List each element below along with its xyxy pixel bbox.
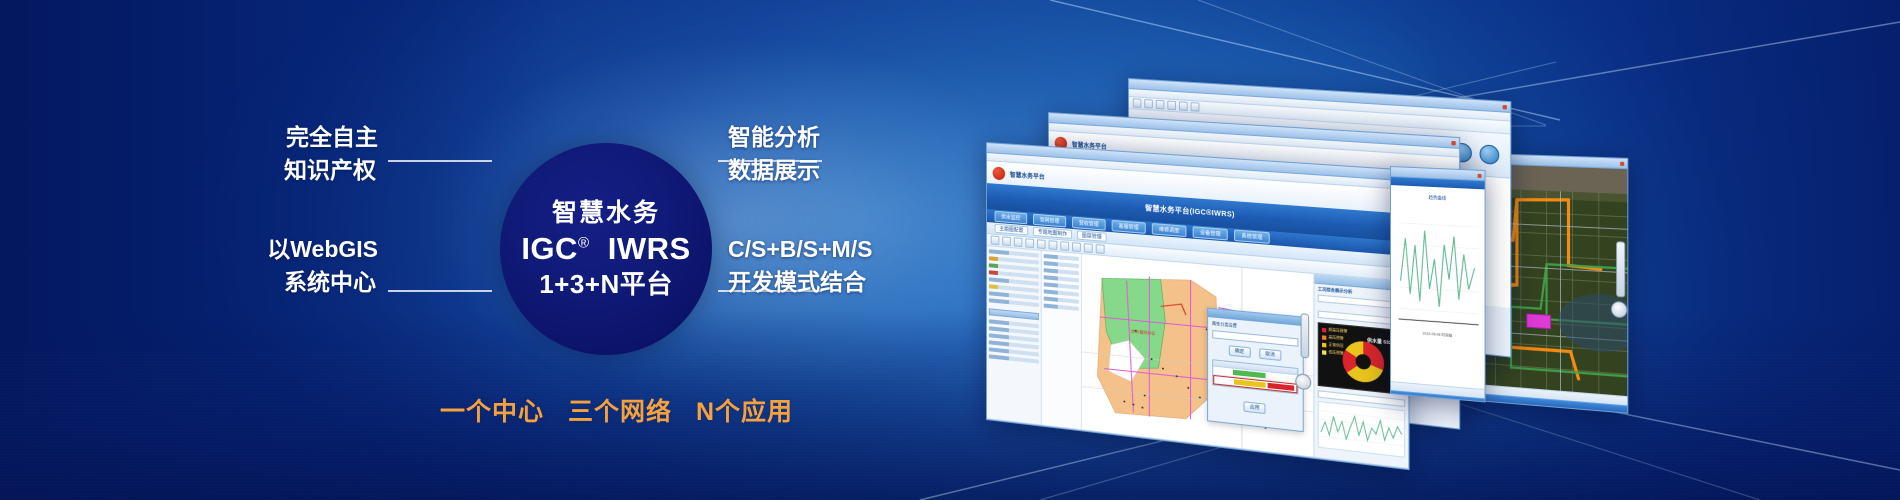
banner-stage: 智慧水务平台(IGC®IWRS) 智慧水务平台 智慧水务平台(IGC®IWRS)… [0,0,1900,500]
tool-row[interactable] [1044,268,1079,275]
window-close-icon[interactable] [1478,173,1482,177]
sub-tab-theme-config[interactable]: 主题图配置 [995,224,1029,236]
app-window-gis-main[interactable]: 智慧水务平台 智慧水务平台(IGC®IWRS) 供水监控 管网管理 营收管理 客… [986,142,1410,470]
feature-label-line1: 以WebGIS [267,236,378,262]
tool-row[interactable] [1044,289,1079,296]
badge-iwrs: IWRS [608,231,691,266]
feature-label-line1: 智能分析 [728,124,820,150]
feature-label-line2: 数据展示 [728,154,958,187]
badge-line-1: 智慧水务 [552,200,660,226]
legend-label: 正常供压 [1329,342,1344,349]
feature-bottom-left: 以WebGIS 系统中心 [178,233,378,298]
toolbar-print-icon[interactable] [1014,237,1023,247]
platform-title: 智慧水务平台(IGC®IWRS) [1145,203,1235,220]
central-badge: 智慧水务 IGC® IWRS 1+3+N平台 [500,143,712,355]
map-tools-panel[interactable] [1042,251,1082,430]
feature-label-line1: C/S+B/S+M/S [728,236,872,262]
feature-bottom-right: C/S+B/S+M/S 开发模式结合 [728,233,958,298]
toolbar-measure-icon[interactable] [1072,242,1081,252]
window-close-icon[interactable] [1503,104,1507,109]
toolbar-icon[interactable] [1133,98,1142,108]
feature-label-line2: 知识产权 [178,154,378,187]
toolbar-save-icon[interactable] [1002,236,1011,246]
connector-top-left [388,160,492,162]
toolbar-icon[interactable] [1156,100,1165,110]
legend-item: 超高压报警 [1322,327,1347,335]
ribbon-icon[interactable] [1480,144,1500,165]
tool-row[interactable] [1044,275,1079,282]
color-swatch-red[interactable] [1267,383,1294,391]
connector-bottom-left [388,290,492,292]
attribute-classify-dialog[interactable]: 属性分类设置 确定 取消 [1207,308,1304,432]
legend-swatch [1322,327,1326,332]
feature-top-right: 智能分析 数据展示 [728,121,958,186]
badge-igc: IGC [521,231,578,266]
toolbar-zoom-in-icon[interactable] [1025,238,1034,248]
trend-sparkline [1318,401,1405,458]
legend-label: 超高压报警 [1329,327,1348,334]
tagline-part-1: 一个中心 [440,398,544,426]
tool-row[interactable] [1044,303,1079,310]
map-zoom-slider[interactable] [1616,241,1625,297]
dialog-ok-button[interactable]: 确定 [1229,345,1251,358]
registered-mark-icon: ® [578,235,590,252]
feature-label-line2: 开发模式结合 [728,266,958,299]
badge-line-2: IGC® IWRS [521,233,690,266]
sub-tab-layer-mgmt[interactable]: 图层管理 [1077,230,1107,242]
sub-tab-thematic-map[interactable]: 专题地图制作 [1033,227,1072,239]
tool-row[interactable] [1044,261,1079,268]
donut-ring [1343,339,1385,384]
app-window-trend-chart[interactable]: 趋势曲线 2013-06-08 时间轴 [1390,166,1486,403]
dialog-cancel-button[interactable]: 取消 [1259,348,1281,361]
legend-item: 正常供压 [1322,342,1347,350]
feature-label-line1: 完全自主 [286,124,378,150]
toolbar-identify-icon[interactable] [1084,243,1093,253]
toolbar-select-icon[interactable] [1060,241,1069,251]
toolbar-icon[interactable] [1179,101,1188,111]
water-drop-logo-icon [993,166,1005,180]
legend-swatch [1322,342,1326,347]
legend-label: 高压预警 [1329,335,1344,342]
legend-label: 低压预警 [1329,350,1344,357]
toolbar-icon[interactable] [1167,101,1176,111]
tool-row[interactable] [1044,296,1079,303]
tool-row[interactable] [1044,282,1079,289]
toolbar-open-icon[interactable] [991,235,1000,245]
feature-top-left: 完全自主 知识产权 [178,121,378,186]
toolbar-icon[interactable] [1144,99,1153,109]
gis-map-canvas[interactable]: 供水管网分区 属性分类设置 确定 取消 [1082,254,1314,457]
toolbar-zoom-out-icon[interactable] [1037,239,1046,249]
toolbar-pan-icon[interactable] [1049,240,1058,250]
attribute-panel-header [989,308,1039,320]
window-close-icon[interactable] [1451,140,1455,145]
tagline: 一个中心 三个网络 N个应用 [440,392,793,428]
map-zoom-slider[interactable] [1300,313,1309,358]
tagline-part-3: N个应用 [696,398,793,426]
legend-item: 高压预警 [1322,334,1347,342]
layer-tree-panel[interactable] [987,246,1042,425]
toolbar-query-icon[interactable] [1096,244,1105,254]
tagline-part-2: 三个网络 [568,398,672,426]
feature-label-line2: 系统中心 [178,266,378,299]
legend-swatch [1322,335,1326,340]
badge-line-3: 1+3+N平台 [539,271,673,298]
brand-label: 智慧水务平台 [1010,169,1045,181]
legend-swatch [1322,350,1326,355]
layer-tree-row[interactable] [989,298,1039,307]
window-close-icon[interactable] [1620,161,1624,165]
pan-navigator-icon[interactable] [1611,301,1627,319]
tool-row[interactable] [1044,254,1079,261]
toolbar-icon[interactable] [1191,102,1200,112]
dialog-apply-button[interactable]: 应用 [1244,402,1266,415]
color-swatch-yellow[interactable] [1234,379,1265,388]
